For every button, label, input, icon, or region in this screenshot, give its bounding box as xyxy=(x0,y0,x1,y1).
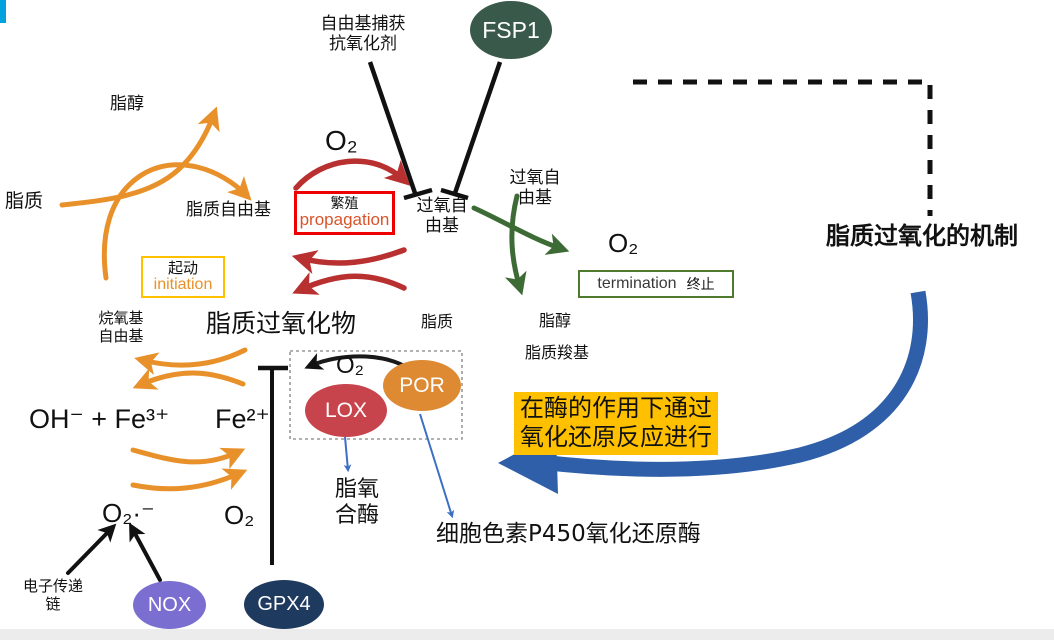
label-alkoxy-radical: 烷氧基自由基 xyxy=(98,310,143,345)
label-lipid-peroxide: 脂质过氧化物 xyxy=(206,309,356,339)
label-superoxide: O₂·⁻ xyxy=(102,498,155,529)
node-lox[interactable]: LOX xyxy=(305,384,387,437)
label-cytochrome-p450: 细胞色素P450氧化还原酶 xyxy=(436,521,701,548)
label-lipid-radical: 脂质自由基 xyxy=(186,200,271,220)
label-o2-green: O₂ xyxy=(608,228,638,259)
label-lipid-carboxyl: 脂质羧基 xyxy=(525,344,589,363)
label-fe2: Fe²⁺ xyxy=(215,404,270,436)
label-lipid-alcohol-right: 脂醇 xyxy=(539,312,571,331)
callout-enzyme-redox: 在酶的作用下通过 氧化还原反应进行 xyxy=(514,392,718,455)
stage-box-termination[interactable]: termination 终止 xyxy=(578,270,734,298)
termination-cn-label: 终止 xyxy=(687,274,715,294)
label-lipid-mid: 脂质 xyxy=(421,313,453,332)
initiation-cn-label: 起动 xyxy=(168,261,198,276)
callout-line-2: 氧化还原反应进行 xyxy=(520,423,712,451)
node-fsp1-label: FSP1 xyxy=(482,17,540,44)
initiation-en-label: initiation xyxy=(154,276,213,294)
label-lipoxygenase: 脂氧合酶 xyxy=(335,477,379,529)
label-oh-fe3: OH⁻ + Fe³⁺ xyxy=(29,404,169,436)
propagation-cn-label: 繁殖 xyxy=(331,197,359,211)
callout-line-1: 在酶的作用下通过 xyxy=(520,394,712,422)
label-peroxy-radical-right: 过氧自由基 xyxy=(510,168,561,208)
figure-title: 脂质过氧化的机制 xyxy=(826,222,1018,250)
diagram-canvas: FSP1 NOX GPX4 LOX POR 起动 initiation 繁殖 p… xyxy=(0,0,1054,640)
node-fsp1[interactable]: FSP1 xyxy=(470,1,552,59)
label-lipid: 脂质 xyxy=(5,190,43,212)
bottom-status-bar xyxy=(0,629,1054,640)
node-gpx4[interactable]: GPX4 xyxy=(244,580,324,629)
label-electron-transport-chain: 电子传递链 xyxy=(23,578,83,613)
label-peroxy-radical-center: 过氧自由基 xyxy=(417,196,468,236)
label-o2-enzyme-box: O₂ xyxy=(336,352,364,380)
node-nox-label: NOX xyxy=(148,594,191,617)
label-radical-trapping-antioxidant: 自由基捕获抗氧化剂 xyxy=(321,14,406,54)
termination-en-label: termination xyxy=(597,275,676,293)
propagation-en-label: propagation xyxy=(300,211,390,230)
label-o2-top: O₂ xyxy=(325,124,358,157)
node-por[interactable]: POR xyxy=(383,360,461,411)
label-lipid-alcohol-top: 脂醇 xyxy=(110,94,144,114)
stage-box-initiation[interactable]: 起动 initiation xyxy=(141,256,225,298)
node-lox-label: LOX xyxy=(325,399,367,423)
label-o2-bottom: O₂ xyxy=(224,500,254,531)
node-nox[interactable]: NOX xyxy=(133,581,206,629)
node-por-label: POR xyxy=(399,374,445,398)
node-gpx4-label: GPX4 xyxy=(257,593,310,616)
stage-box-propagation[interactable]: 繁殖 propagation xyxy=(294,191,395,235)
